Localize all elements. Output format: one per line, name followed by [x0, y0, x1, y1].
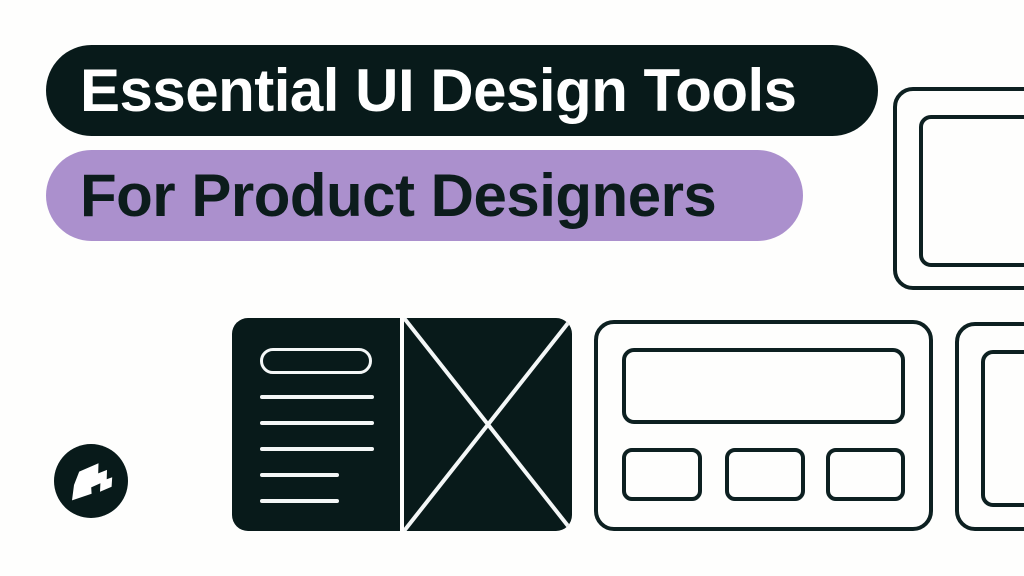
framed-card-wireframe-bottom[interactable] [955, 322, 1024, 531]
wireframe-hero-block [622, 348, 905, 424]
x-diagonal-placeholder-icon [404, 318, 572, 531]
wireframe-content-line [260, 447, 374, 451]
lightning-bolt-mark-icon [68, 460, 114, 502]
headline-secondary-pill: For Product Designers [46, 150, 803, 241]
dark-sidebar-wireframe[interactable] [232, 318, 400, 531]
headline-primary-pill: Essential UI Design Tools [46, 45, 878, 136]
wireframe-content-line [260, 473, 339, 477]
wireframe-content-line [260, 395, 374, 399]
layout-card-wireframe[interactable] [594, 320, 933, 531]
wireframe-search-field [260, 348, 372, 374]
wireframe-inner-frame [919, 115, 1024, 267]
image-placeholder-wireframe[interactable] [404, 318, 572, 531]
brand-logo-badge[interactable] [54, 444, 128, 518]
wireframe-content-line [260, 421, 374, 425]
framed-card-wireframe-top[interactable] [893, 87, 1024, 290]
headline-primary-text: Essential UI Design Tools [80, 61, 797, 121]
poster-canvas: Essential UI Design Tools For Product De… [0, 0, 1024, 576]
wireframe-tile [622, 448, 702, 501]
wireframe-inner-frame [981, 350, 1024, 507]
wireframe-tile [826, 448, 905, 501]
wireframe-content-line [260, 499, 339, 503]
headline-secondary-text: For Product Designers [80, 166, 716, 226]
wireframe-tile [725, 448, 805, 501]
